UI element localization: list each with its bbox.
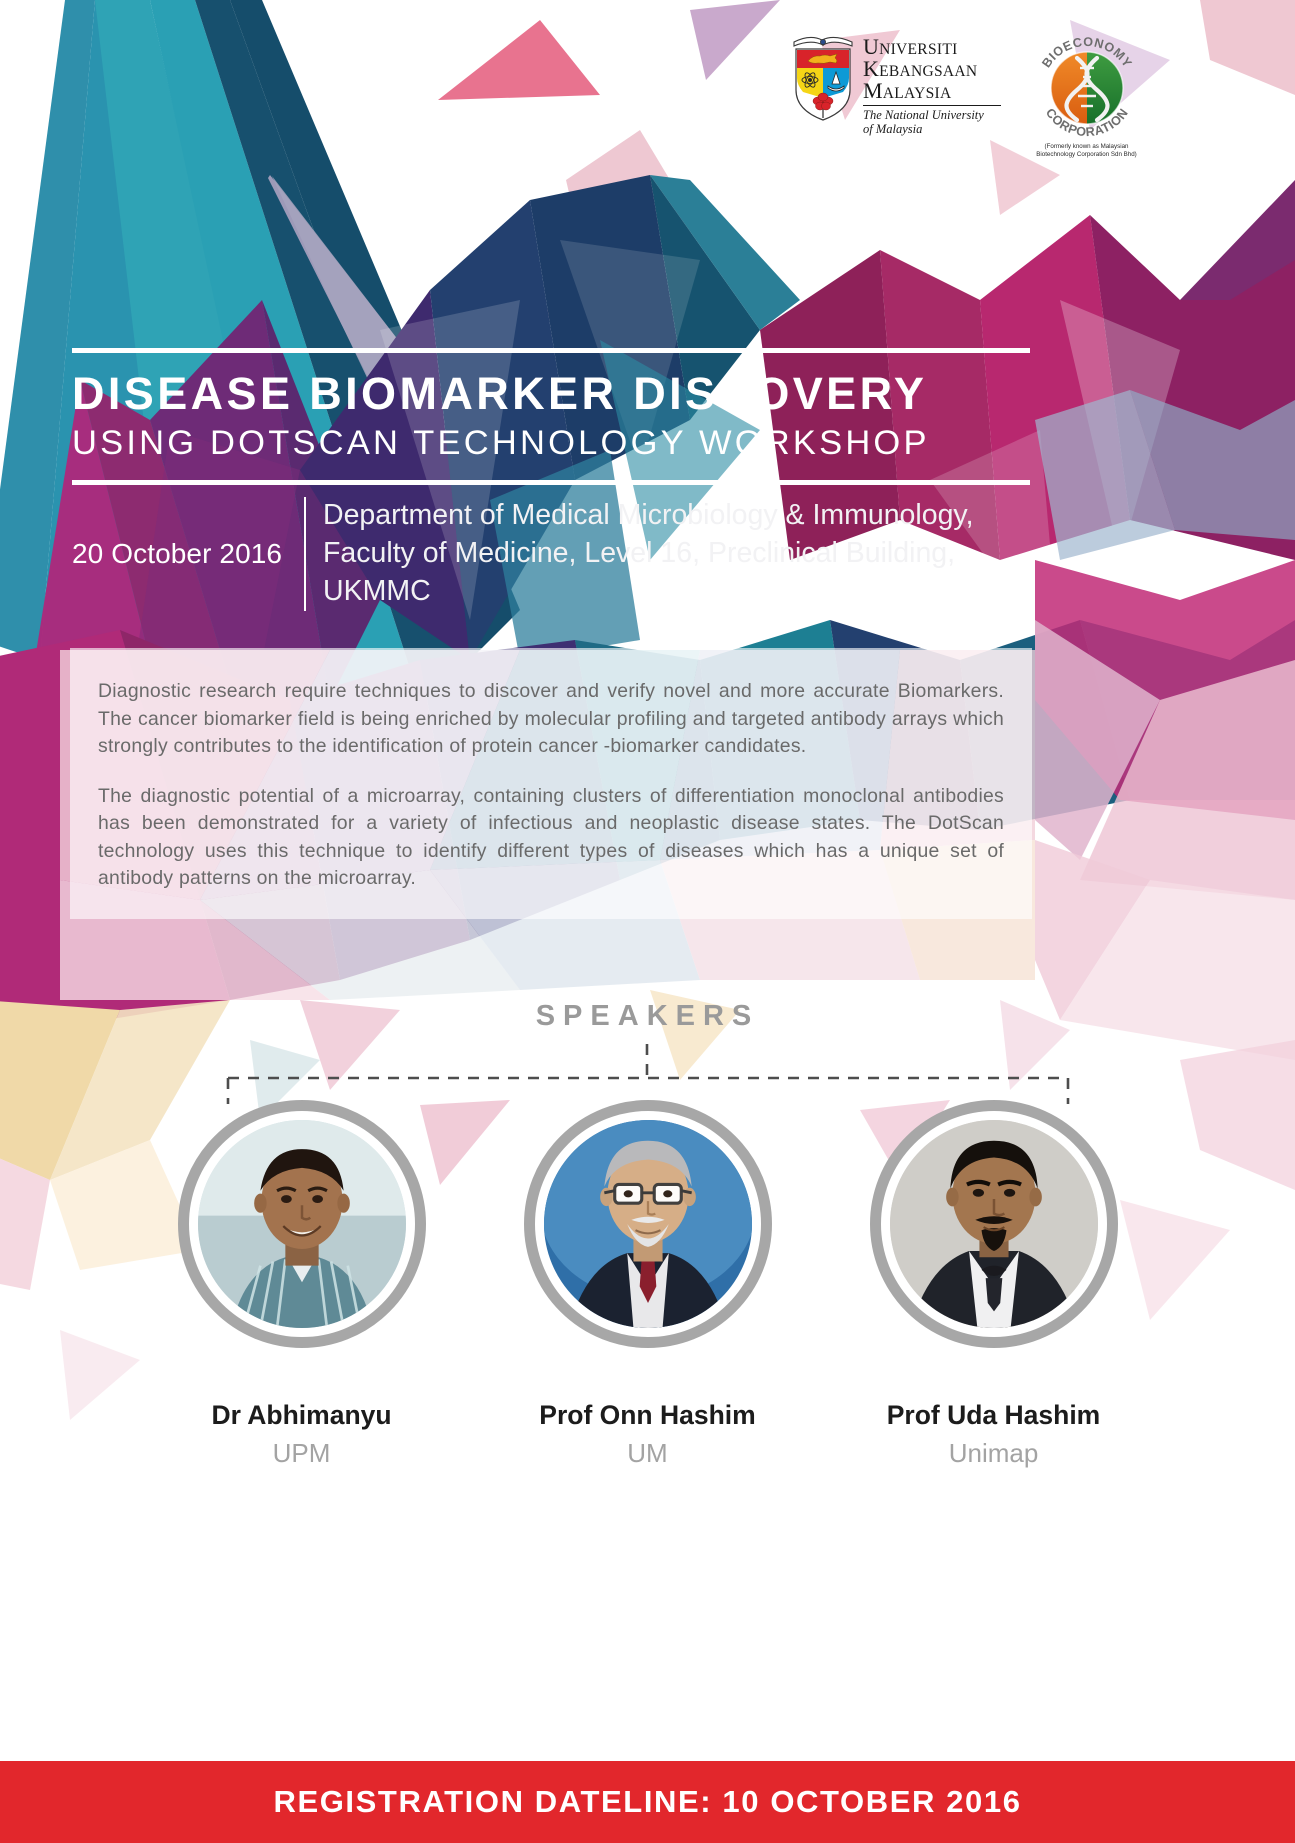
poster-canvas: UNIVERSITI KEBANGSAAN MALAYSIA The Natio… — [0, 0, 1295, 1843]
registration-deadline-text: REGISTRATION DATELINE: 10 OCTOBER 2016 — [273, 1784, 1021, 1820]
venue-line-1: Department of Medical Microbiology & Imm… — [323, 497, 974, 535]
event-meta: 20 October 2016 Department of Medical Mi… — [72, 497, 1052, 611]
ukm-logo: UNIVERSITI KEBANGSAAN MALAYSIA The Natio… — [790, 30, 1001, 136]
speaker-card[interactable]: Prof Onn Hashim UM — [517, 1100, 779, 1469]
speakers-list: Dr Abhimanyu UPM — [0, 1100, 1295, 1469]
speaker-portrait-abhimanyu — [198, 1120, 406, 1328]
speaker-name: Prof Onn Hashim — [517, 1400, 779, 1431]
ukm-divider — [863, 105, 1001, 106]
venue-line-2: Faculty of Medicine, Level 16, Preclinic… — [323, 535, 974, 573]
speaker-portrait-uda-hashim — [890, 1120, 1098, 1328]
ukm-line-1: UNIVERSITI — [863, 36, 1001, 58]
ukm-shield-crest-icon — [790, 30, 856, 122]
venue-line-3: UKMMC — [323, 573, 974, 611]
title-block: DISEASE BIOMARKER DISCOVERY USING DOTSCA… — [72, 348, 1030, 485]
speaker-card[interactable]: Prof Uda Hashim Unimap — [863, 1100, 1125, 1469]
speaker-name: Dr Abhimanyu — [171, 1400, 433, 1431]
logo-bar: UNIVERSITI KEBANGSAAN MALAYSIA The Natio… — [790, 30, 1270, 190]
ukm-tagline-line1: The National University — [863, 108, 1001, 122]
event-venue: Department of Medical Microbiology & Imm… — [304, 497, 974, 611]
dna-helix-globe-icon: BIOECONOMY CORPORATION — [1031, 30, 1143, 142]
abstract-paragraph-1: Diagnostic research require techniques t… — [98, 678, 1004, 761]
title-rule-bottom — [72, 480, 1030, 485]
ukm-line-3: MALAYSIA — [863, 80, 1001, 102]
speaker-photo-ring — [178, 1100, 426, 1348]
speaker-affiliation: UM — [517, 1438, 779, 1469]
speaker-photo-ring — [870, 1100, 1118, 1348]
abstract-paragraph-2: The diagnostic potential of a microarray… — [98, 783, 1004, 893]
ukm-logo-text: UNIVERSITI KEBANGSAAN MALAYSIA The Natio… — [863, 30, 1001, 136]
speaker-portrait-onn-hashim — [544, 1120, 752, 1328]
registration-footer: REGISTRATION DATELINE: 10 OCTOBER 2016 — [0, 1761, 1295, 1843]
bioeconomy-subtitle-line2: Biotechnology Corporation Sdn Bhd) — [1025, 151, 1148, 159]
speaker-photo-ring — [524, 1100, 772, 1348]
speaker-name: Prof Uda Hashim — [863, 1400, 1125, 1431]
page-title: DISEASE BIOMARKER DISCOVERY — [72, 367, 1030, 420]
bioeconomy-subtitle-line1: (Formerly known as Malaysian — [1025, 143, 1148, 151]
speakers-connector-lines — [0, 1044, 1295, 1108]
page-subtitle: USING DOTSCAN TECHNOLOGY WORKSHOP — [72, 422, 1030, 464]
speaker-affiliation: UPM — [171, 1438, 433, 1469]
ukm-line-2: KEBANGSAAN — [863, 58, 1001, 80]
abstract-panel: Diagnostic research require techniques t… — [70, 648, 1032, 919]
title-rule-top — [72, 348, 1030, 353]
event-date: 20 October 2016 — [72, 538, 304, 570]
speaker-affiliation: Unimap — [863, 1438, 1125, 1469]
speaker-card[interactable]: Dr Abhimanyu UPM — [171, 1100, 433, 1469]
speakers-heading: SPEAKERS — [0, 1000, 1295, 1033]
ukm-tagline-line2: of Malaysia — [863, 122, 1001, 136]
bioeconomy-logo: BIOECONOMY CORPORATION (Formerly known a… — [1025, 30, 1148, 160]
